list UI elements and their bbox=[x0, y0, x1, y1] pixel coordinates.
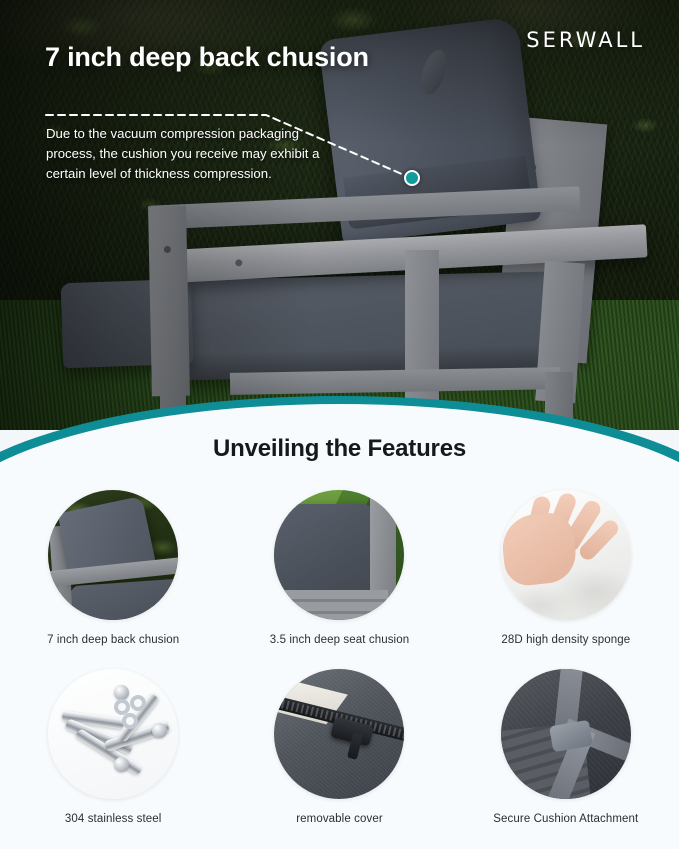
stainless-hardware-photo bbox=[48, 669, 178, 799]
brand-logo: SERWALL bbox=[526, 28, 645, 52]
feature-caption: removable cover bbox=[296, 813, 383, 825]
back-cushion-on-chair-photo bbox=[48, 490, 178, 620]
feature-caption: 28D high density sponge bbox=[501, 634, 630, 646]
feature-card[interactable]: 7 inch deep back chusion bbox=[0, 490, 226, 646]
feature-card[interactable]: 3.5 inch deep seat chusion bbox=[226, 490, 452, 646]
feature-caption: 304 stainless steel bbox=[65, 813, 162, 825]
hand-pressing-foam-photo bbox=[501, 490, 631, 620]
features-grid: 7 inch deep back chusion 3.5 inch deep s… bbox=[0, 490, 679, 825]
seat-cushion-closeup-photo bbox=[274, 490, 404, 620]
hero-headline: 7 inch deep back chusion bbox=[45, 40, 375, 75]
feature-card[interactable]: 28D high density sponge bbox=[453, 490, 679, 646]
feature-caption: Secure Cushion Attachment bbox=[493, 813, 638, 825]
features-section: Unveiling the Features 7 inch deep back … bbox=[0, 404, 679, 849]
feature-caption: 3.5 inch deep seat chusion bbox=[270, 634, 409, 646]
section-title: Unveiling the Features bbox=[0, 435, 679, 463]
zipper-closeup-photo bbox=[274, 669, 404, 799]
hero-photo: SERWALL 7 inch deep back chusion Due to … bbox=[0, 0, 679, 430]
feature-card[interactable]: removable cover bbox=[226, 669, 452, 825]
fabric-strap-tie-photo bbox=[501, 669, 631, 799]
feature-card[interactable]: 304 stainless steel bbox=[0, 669, 226, 825]
chair-base-rail bbox=[230, 367, 560, 395]
feature-caption: 7 inch deep back chusion bbox=[47, 634, 179, 646]
product-feature-page: SERWALL 7 inch deep back chusion Due to … bbox=[0, 0, 679, 849]
callout-dot-icon bbox=[404, 170, 420, 186]
feature-card[interactable]: Secure Cushion Attachment bbox=[453, 669, 679, 825]
seat-cushion bbox=[167, 271, 559, 380]
hero-body-text: Due to the vacuum compression packaging … bbox=[46, 124, 336, 183]
